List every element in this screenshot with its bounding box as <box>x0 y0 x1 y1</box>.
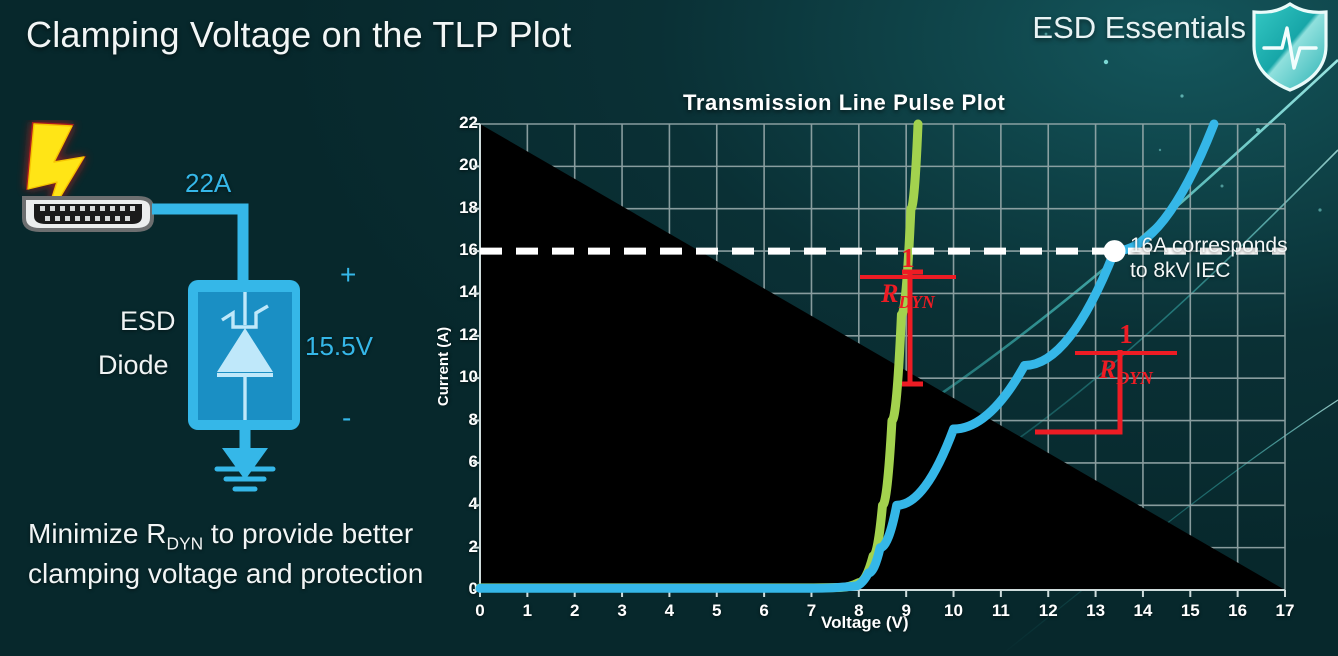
slope-annotation-2: 1 RDYN <box>1075 321 1177 388</box>
slope-1-numerator: 1 <box>860 245 956 272</box>
slide-caption: Minimize RDYN to provide better clamping… <box>28 516 428 592</box>
callout-line-1: 16A corresponds <box>1130 233 1288 258</box>
signal-wire <box>152 209 243 280</box>
slope-1-denominator: RDYN <box>860 280 956 312</box>
slide-canvas: Clamping Voltage on the TLP Plot ESD Ess… <box>0 0 1338 656</box>
caption-subscript: DYN <box>166 534 203 554</box>
polarity-minus-label: - <box>342 404 351 432</box>
page-title: Clamping Voltage on the TLP Plot <box>26 14 571 56</box>
polarity-plus-label: + <box>340 259 356 291</box>
slope-2-denominator: RDYN <box>1075 356 1177 388</box>
threshold-callout: 16A corresponds to 8kV IEC <box>1130 233 1288 283</box>
voltage-label: 15.5V <box>305 331 373 362</box>
component-label-line2: Diode <box>98 350 169 381</box>
slope-2-den-sub: DYN <box>1117 368 1153 388</box>
tlp-chart: Transmission Line Pulse Plot Current (A)… <box>415 88 1325 648</box>
slope-2-den-base: R <box>1099 355 1116 384</box>
ground-wire <box>222 430 268 480</box>
fraction-bar <box>1075 351 1177 355</box>
esd-diode-component <box>188 280 300 430</box>
slope-1-den-base: R <box>881 279 898 308</box>
slope-1-den-sub: DYN <box>899 292 935 312</box>
fraction-bar <box>860 275 956 279</box>
caption-prefix: Minimize R <box>28 518 166 549</box>
slope-annotation-1: 1 RDYN <box>860 245 956 312</box>
plot-area <box>415 88 1325 628</box>
brand-name: ESD Essentials <box>1032 10 1246 46</box>
slope-2-numerator: 1 <box>1075 321 1177 348</box>
shield-pulse-icon <box>1244 0 1336 94</box>
hdmi-connector-icon <box>24 198 152 230</box>
current-label: 22A <box>185 168 231 199</box>
component-label-line1: ESD <box>120 306 176 337</box>
callout-line-2: to 8kV IEC <box>1130 258 1288 283</box>
data-point-marker <box>1104 240 1126 262</box>
